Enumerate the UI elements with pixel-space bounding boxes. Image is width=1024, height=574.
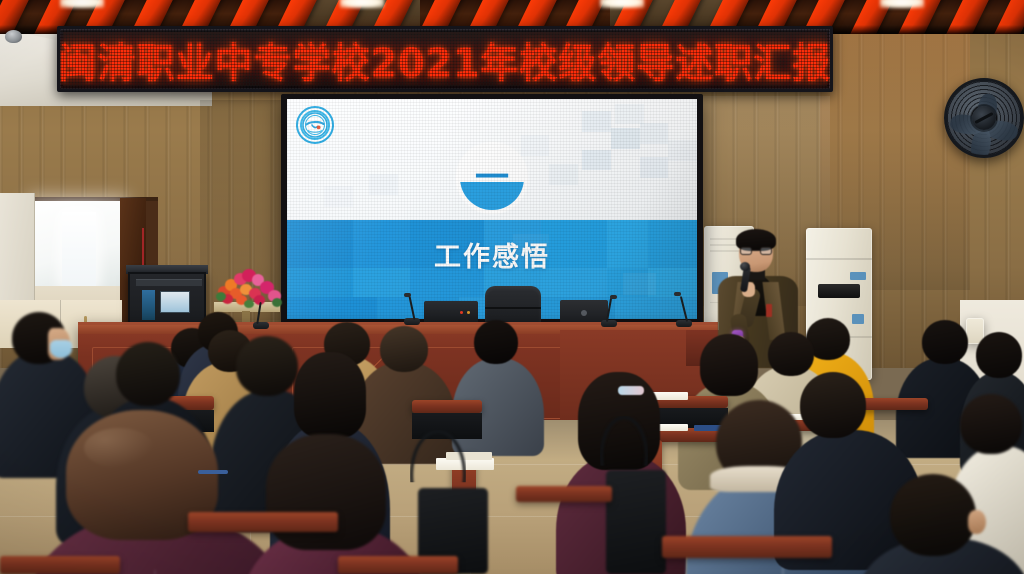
hair-clip bbox=[618, 386, 644, 395]
ac-air-vent bbox=[818, 284, 860, 298]
slide-title: 工作感悟 bbox=[287, 235, 697, 274]
av-blue-module bbox=[142, 290, 155, 320]
attendee-head bbox=[800, 372, 866, 438]
attendee-head bbox=[116, 342, 180, 406]
flower-arrangement bbox=[216, 268, 282, 308]
seat-armrest[interactable] bbox=[338, 556, 458, 574]
ear bbox=[968, 510, 986, 534]
face-mask bbox=[50, 340, 72, 358]
ceiling-light-panel bbox=[60, 0, 104, 8]
handbag[interactable] bbox=[606, 470, 666, 574]
ceiling-light-panel bbox=[340, 0, 384, 8]
microphone-base[interactable] bbox=[601, 320, 617, 327]
window-pane bbox=[62, 212, 96, 286]
section-number-badge: 一 bbox=[456, 142, 528, 214]
attendee-head bbox=[266, 434, 386, 550]
attendee-head bbox=[890, 474, 976, 556]
conference-hall-screenshot: 闽清职业中专学校2021年校级领导述职汇报 bbox=[0, 0, 1024, 574]
av-monitor bbox=[160, 291, 190, 313]
microphone-capsule bbox=[610, 295, 617, 299]
seat-armrest[interactable] bbox=[0, 556, 120, 574]
attendee-head bbox=[976, 332, 1022, 378]
school-emblem bbox=[296, 106, 334, 144]
attendee-head bbox=[922, 320, 968, 364]
microphone-head bbox=[740, 262, 750, 271]
lapel-badge bbox=[766, 304, 772, 317]
seat-armrest[interactable] bbox=[662, 536, 832, 558]
microphone-capsule bbox=[674, 292, 681, 296]
seat-armrest[interactable] bbox=[516, 486, 612, 502]
seat-armrest[interactable] bbox=[188, 512, 338, 532]
microphone-base[interactable] bbox=[676, 320, 692, 327]
attendee-head bbox=[236, 336, 298, 396]
attendee-head bbox=[700, 334, 758, 396]
wall-mounted-fan bbox=[944, 78, 1024, 158]
pen[interactable] bbox=[198, 470, 228, 474]
microphone-base[interactable] bbox=[404, 318, 420, 325]
led-banner-text: 闽清职业中专学校2021年校级领导述职汇报 bbox=[59, 30, 832, 88]
attendee-head bbox=[474, 320, 518, 364]
attendee-head bbox=[294, 352, 366, 438]
dome-security-camera bbox=[5, 30, 22, 43]
ceiling-light-panel bbox=[880, 0, 924, 8]
led-scrolling-banner: 闽清职业中专学校2021年校级领导述职汇报 bbox=[57, 26, 833, 92]
ceiling-light-panel bbox=[600, 0, 644, 8]
attendee-head bbox=[768, 332, 814, 376]
microphone-capsule bbox=[404, 293, 411, 297]
attendee-head bbox=[380, 326, 428, 372]
quilt-seam bbox=[154, 570, 156, 574]
seat-row[interactable] bbox=[412, 400, 482, 413]
attendee-head bbox=[960, 394, 1022, 454]
section-number-glyph: 一 bbox=[475, 161, 509, 195]
eyeglasses bbox=[740, 247, 772, 255]
